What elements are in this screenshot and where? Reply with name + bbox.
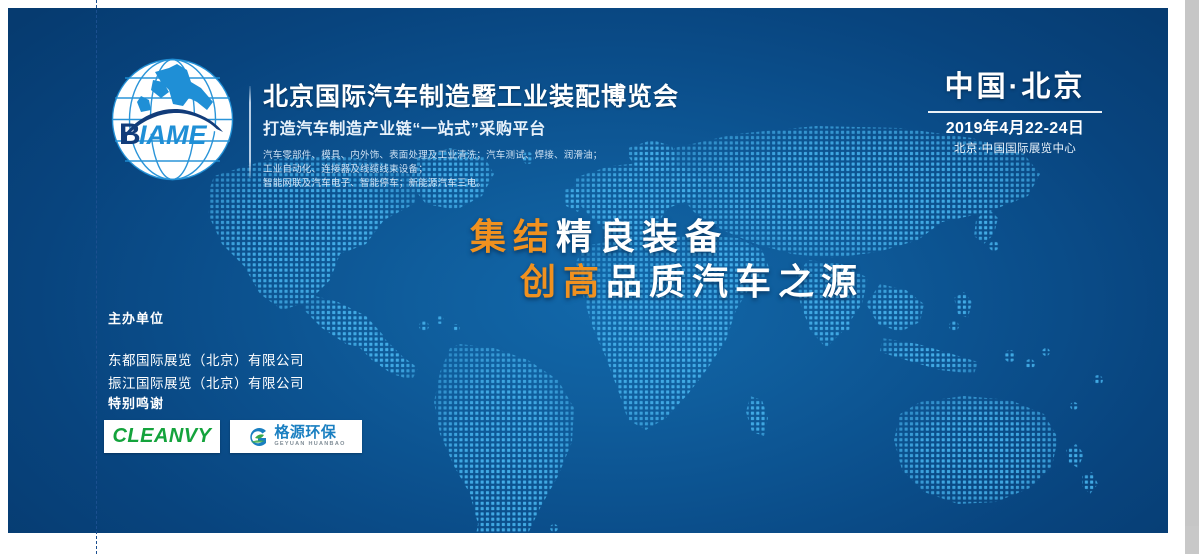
scope-line-2: 工业自动化、连接器及线缆线束设备； bbox=[263, 163, 913, 177]
location-divider bbox=[928, 111, 1102, 113]
sponsor-logo-cleanvy: CLEANVY bbox=[104, 420, 220, 453]
vertical-guide-line bbox=[96, 0, 97, 554]
sponsor-logo-geyuan: 格源环保 GEYUAN HUANBAO bbox=[230, 420, 362, 453]
scope-line-1: 汽车零部件、模具、内外饰、表面处理及工业清洗；汽车测试、焊接、润滑油； bbox=[263, 149, 913, 163]
slogan-block: 集结精良装备 创高品质汽车之源 bbox=[470, 214, 864, 304]
svg-text:B: B bbox=[119, 118, 141, 151]
location-title: 中国·北京 bbox=[920, 70, 1110, 104]
organizer-block: 主办单位 东都国际展览（北京）有限公司 振江国际展览（北京）有限公司 bbox=[108, 308, 304, 395]
biame-logo: B IAME bbox=[111, 56, 234, 183]
event-date: 2019年4月22-24日 bbox=[920, 119, 1110, 139]
organizer-label: 主办单位 bbox=[108, 308, 304, 327]
svg-text:IAME: IAME bbox=[139, 120, 207, 150]
thanks-block: 特别鸣谢 bbox=[108, 393, 164, 412]
cleanvy-wordmark: CLEANVY bbox=[112, 425, 211, 448]
sponsor-logo-row: CLEANVY 格源环保 GEYUAN HUANBAO bbox=[104, 420, 362, 453]
poster-canvas: B IAME 北京国际汽车制造暨工业装配博览会 打造汽车制造产业链“一站式”采购… bbox=[8, 8, 1168, 533]
vertical-scrollbar[interactable] bbox=[1185, 0, 1199, 554]
slogan-line-2-highlight: 创高 bbox=[520, 261, 606, 302]
location-block: 中国·北京 2019年4月22-24日 北京·中国国际展览中心 bbox=[920, 70, 1110, 157]
organizer-company-2: 振江国际展览（北京）有限公司 bbox=[108, 372, 304, 395]
thanks-label: 特别鸣谢 bbox=[108, 393, 164, 412]
geyuan-mark-icon bbox=[246, 425, 270, 449]
geyuan-name-en: GEYUAN HUANBAO bbox=[274, 442, 345, 448]
page-title: 北京国际汽车制造暨工业装配博览会 bbox=[263, 82, 913, 112]
scope-description: 汽车零部件、模具、内外饰、表面处理及工业清洗；汽车测试、焊接、润滑油； 工业自动… bbox=[263, 149, 913, 191]
screenshot-root: B IAME 北京国际汽车制造暨工业装配博览会 打造汽车制造产业链“一站式”采购… bbox=[0, 0, 1199, 554]
header-text-block: 北京国际汽车制造暨工业装配博览会 打造汽车制造产业链“一站式”采购平台 汽车零部… bbox=[263, 82, 913, 191]
slogan-line-2-rest: 品质汽车之源 bbox=[606, 261, 864, 302]
slogan-line-1-rest: 精良装备 bbox=[556, 216, 728, 257]
organizer-list: 东都国际展览（北京）有限公司 振江国际展览（北京）有限公司 bbox=[108, 349, 304, 395]
scope-line-3: 智能网联及汽车电子、智能停车；新能源汽车三电。 bbox=[263, 177, 913, 191]
slogan-line-1: 集结精良装备 bbox=[470, 214, 864, 259]
slogan-line-1-highlight: 集结 bbox=[470, 216, 556, 257]
event-venue: 北京·中国国际展览中心 bbox=[920, 141, 1110, 157]
page-subtitle: 打造汽车制造产业链“一站式”采购平台 bbox=[263, 120, 913, 140]
organizer-company-1: 东都国际展览（北京）有限公司 bbox=[108, 349, 304, 372]
slogan-line-2: 创高品质汽车之源 bbox=[520, 259, 864, 304]
title-divider bbox=[249, 86, 251, 178]
scrollbar-thumb[interactable] bbox=[1185, 0, 1199, 526]
geyuan-name-cn: 格源环保 bbox=[274, 425, 345, 440]
